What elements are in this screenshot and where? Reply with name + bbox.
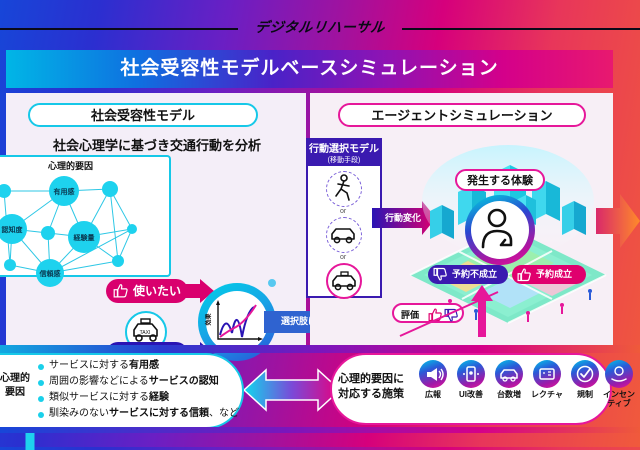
list-item: 周囲の影響などによるサービスの認知 [38,374,248,390]
screen-icon [533,360,561,388]
left-panel-subheading: 社会心理学に基づき交通行動を分析 [14,135,300,154]
network-node-label: 経験量 [73,233,95,242]
network-node-label: 認知度 [2,225,24,234]
psych-factors-box-label: 心理的 要因 [0,372,36,400]
measure-label: 規制 [566,390,604,399]
measure-label: UI改善 [452,390,490,399]
taxi-icon [328,265,360,297]
effect-y-axis-label: 効果 [204,313,213,325]
svg-text:TAXI: TAXI [140,330,151,336]
coin-hand-icon [605,360,633,388]
measures-box-label: 心理的要因に 対応する施策 [338,372,410,402]
measure-label: レクチャ [528,390,566,399]
thumbs-up-icon [517,267,532,282]
smartphone-icon [457,360,485,388]
psych-factors-label-line1: 心理的 [0,373,30,384]
mode-separator-1: or [340,208,346,215]
mode-separator-2: or [340,254,346,261]
banner-title: 社会受容性モデルベースシミュレーション [6,50,613,88]
psych-network-graph: 有用感 認知度 経験量 信頼感 [0,169,156,287]
person-icon-circle [471,201,529,259]
car-icon [327,218,359,250]
left-panel: 社会受容性モデル 社会心理学に基づき交通行動を分析 心理的要因 有用感 認知度 … [6,93,306,345]
mode-option-car[interactable] [326,217,362,253]
banner: 社会受容性モデルベースシミュレーション [6,50,613,88]
reservation-ok-pill[interactable]: 予約成立 [512,265,586,284]
bidirectional-arrow [244,368,340,412]
top-bar: デジタルリハーサル [0,0,640,46]
reservation-fail-pill[interactable]: 予約不成立 [428,265,508,284]
measure-item-pr[interactable]: 広報 [414,360,452,399]
experience-pill: 発生する体験 [455,169,545,191]
list-item: 馴染みのないサービスに対する信頼、など [38,406,248,422]
bottom-gradient-strip [0,345,640,353]
network-node-label: 信頼感 [39,269,61,278]
measure-label: インセンティブ [600,390,638,408]
measure-label: 広報 [414,390,452,399]
rehearsal-title: デジタルリハーサル [0,17,640,37]
psych-factors-list: サービスに対する有用感 周囲の影響などによるサービスの認知 類似サービスに対する… [38,358,248,422]
ring-dot-upper [268,279,276,287]
measure-item-incentive[interactable]: インセンティブ [600,360,638,408]
choice-want-pill[interactable]: 使いたい [106,279,188,303]
psych-factors-label-line2: 要因 [5,387,25,398]
thumbs-down-icon [433,267,448,282]
measure-item-lecture[interactable]: レクチャ [528,360,566,399]
car-plus-icon [495,360,523,388]
thumbs-up-icon [113,282,129,299]
walk-icon [327,172,359,204]
measure-label: 台数増 [490,390,528,399]
choice-want-label: 使いたい [133,279,181,303]
check-circle-icon [571,360,599,388]
behavior-model-header: 行動選択モデル (移動手段) [306,138,382,166]
reservation-fail-label: 予約不成立 [452,265,497,284]
right-panel-heading: エージェントシミュレーション [338,103,586,127]
output-arrow-right [596,190,640,252]
person-icon [471,201,529,259]
behavior-model-title: 行動選択モデル [306,140,382,155]
effect-chart-circle [206,291,268,353]
left-panel-heading: 社会受容性モデル [28,103,258,127]
measures-label-line1: 心理的要因に [338,373,404,385]
eval-link-line [380,290,500,350]
measure-item-regulation[interactable]: 規制 [566,360,604,399]
network-node-label: 有用感 [54,187,75,196]
measures-label-line2: 対応する施策 [338,388,404,400]
megaphone-icon [419,360,447,388]
measure-item-ui[interactable]: UI改善 [452,360,490,399]
list-item: 類似サービスに対する経験 [38,390,248,406]
mode-option-walk[interactable] [326,171,362,207]
reservation-ok-label: 予約成立 [536,265,572,284]
effect-chart [206,291,268,353]
mode-option-taxi[interactable] [326,263,362,299]
bottom-gradient-strip-2 [0,427,640,433]
behavior-model-sub: (移動手段) [306,155,382,165]
measure-item-fleet[interactable]: 台数増 [490,360,528,399]
list-item: サービスに対する有用感 [38,358,248,374]
